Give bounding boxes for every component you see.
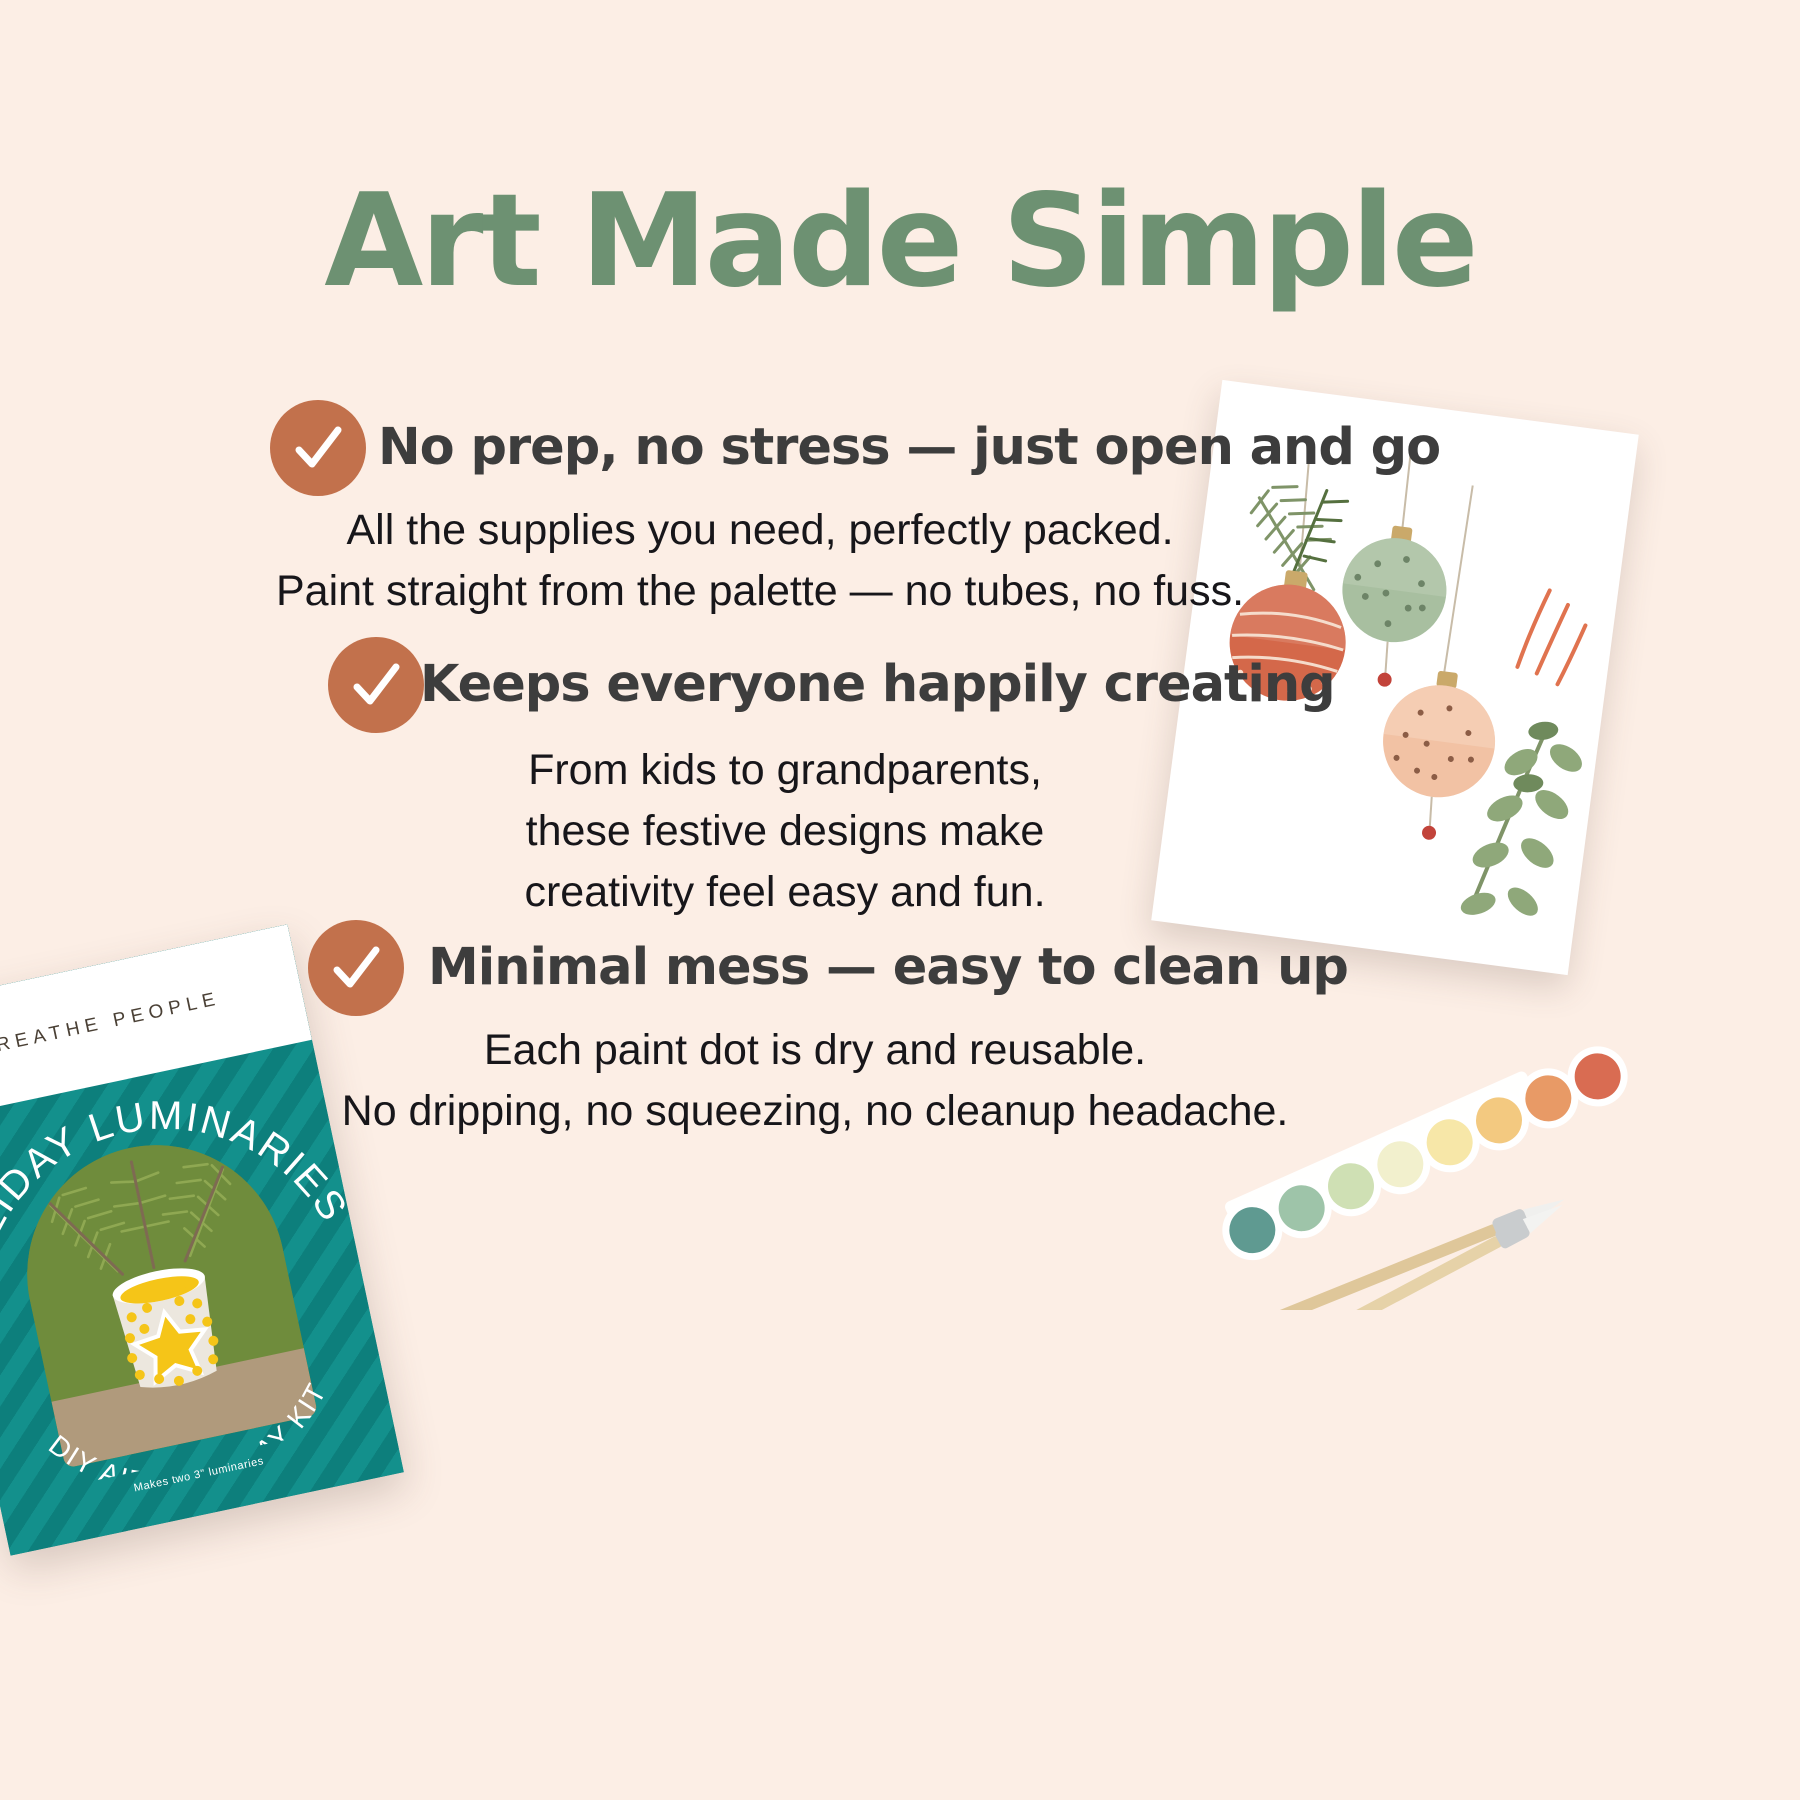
benefit-body: All the supplies you need, perfectly pac…: [0, 500, 1520, 622]
check-glyph: [345, 654, 407, 716]
poster-canvas: Art Made Simple: [0, 0, 1800, 1800]
brand-name: BREATHE PEOPLE: [0, 988, 222, 1061]
benefit-body-line: Paint straight from the palette — no tub…: [0, 561, 1520, 622]
check-glyph: [325, 937, 387, 999]
palette-illustration: [1125, 1010, 1685, 1310]
benefit-heading: No prep, no stress — just open and go: [378, 418, 1440, 477]
check-glyph: [287, 417, 349, 479]
check-circle-icon: [308, 920, 404, 1016]
check-circle-icon: [328, 637, 424, 733]
benefit-heading: Minimal mess — easy to clean up: [428, 938, 1348, 997]
benefit-body-line: From kids to grandparents,: [0, 740, 1570, 801]
paint-palette: [1125, 1010, 1685, 1310]
benefit-body-line: creativity feel easy and fun.: [0, 862, 1570, 923]
benefit-body-line: All the supplies you need, perfectly pac…: [0, 500, 1520, 561]
benefit-heading: Keeps everyone happily creating: [420, 655, 1335, 714]
benefit-body: From kids to grandparents, these festive…: [0, 740, 1570, 923]
benefit-body-line: these festive designs make: [0, 801, 1570, 862]
check-circle-icon: [270, 400, 366, 496]
page-title: Art Made Simple: [0, 175, 1800, 309]
